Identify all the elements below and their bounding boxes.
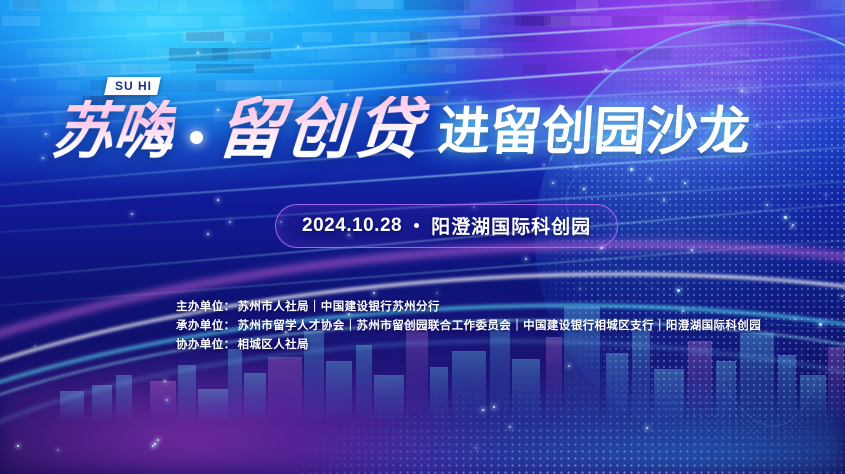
organizer-list: 主办单位：苏州市人社局｜中国建设银行苏州分行承办单位：苏州市留学人才协会｜苏州市…	[176, 298, 761, 352]
organizer-value: 苏州市人社局｜中国建设银行苏州分行	[238, 298, 440, 314]
su-hi-badge: SU HI	[104, 77, 161, 95]
organizer-row: 协办单位：相城区人社局	[176, 336, 761, 352]
organizer-label: 承办单位：	[176, 317, 236, 333]
poster-content: 苏嗨 SU HI 留创贷 进留创园沙龙 2024.10.28 阳澄湖国际科创园 …	[0, 0, 845, 474]
event-date: 2024.10.28	[302, 215, 402, 237]
brand-title: 苏嗨	[49, 100, 178, 162]
organizer-row: 承办单位：苏州市留学人才协会｜苏州市留创园联合工作委员会｜中国建设银行相城区支行…	[176, 317, 761, 333]
product-title: 留创贷	[215, 96, 431, 162]
su-hi-badge-label: SU HI	[115, 79, 152, 93]
main-title: 苏嗨 SU HI 留创贷 进留创园沙龙	[52, 96, 750, 162]
organizer-value: 相城区人社局	[238, 336, 309, 352]
pill-separator-dot	[414, 223, 419, 228]
event-venue: 阳澄湖国际科创园	[431, 212, 591, 239]
title-separator-dot	[190, 131, 203, 144]
organizer-value: 苏州市留学人才协会｜苏州市留创园联合工作委员会｜中国建设银行相城区支行｜阳澄湖国…	[238, 317, 762, 333]
date-venue-pill: 2024.10.28 阳澄湖国际科创园	[275, 204, 618, 248]
organizer-label: 主办单位：	[176, 298, 236, 314]
event-title: 进留创园沙龙	[436, 106, 752, 158]
organizer-row: 主办单位：苏州市人社局｜中国建设银行苏州分行	[176, 298, 761, 314]
organizer-label: 协办单位：	[176, 336, 236, 352]
event-poster: 苏嗨 SU HI 留创贷 进留创园沙龙 2024.10.28 阳澄湖国际科创园 …	[0, 0, 845, 474]
